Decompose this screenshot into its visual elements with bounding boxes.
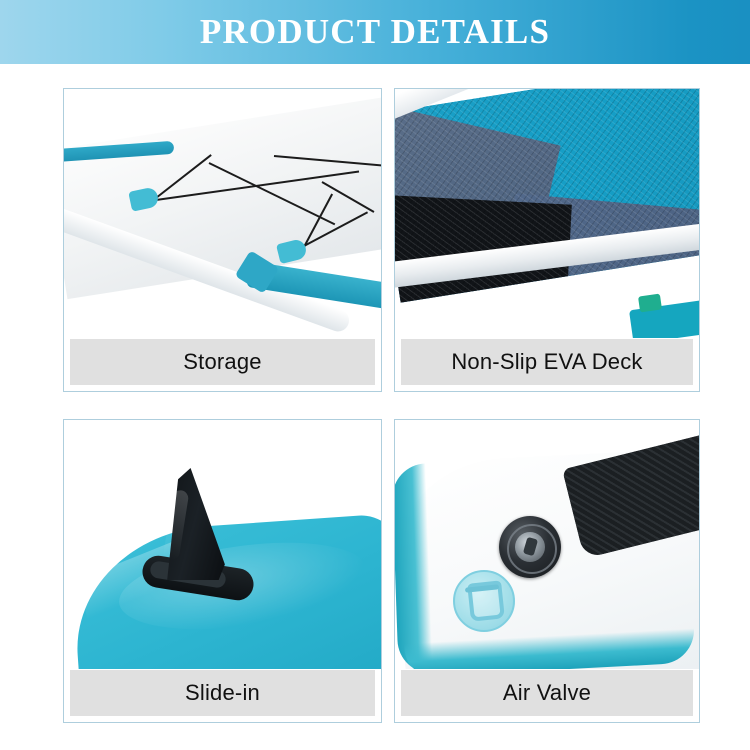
eva-deck-photo — [395, 89, 699, 338]
board-green-accent-shape — [638, 294, 662, 313]
feature-card-slide-in[interactable]: Slide-in — [63, 419, 382, 723]
header-banner: PRODUCT DETAILS — [0, 0, 750, 64]
product-details-page: PRODUCT DETAILS — [0, 0, 750, 750]
card-caption-label: Air Valve — [503, 680, 591, 706]
card-caption-bar: Storage — [70, 339, 375, 385]
card-caption-label: Slide-in — [185, 680, 260, 706]
feature-card-eva-deck[interactable]: Non-Slip EVA Deck — [394, 88, 700, 392]
page-title: PRODUCT DETAILS — [0, 0, 750, 64]
feature-card-storage[interactable]: Storage — [63, 88, 382, 392]
air-valve-photo — [395, 420, 699, 669]
feature-card-grid: Storage — [63, 88, 700, 723]
card-caption-bar: Air Valve — [401, 670, 693, 716]
slide-in-fin-photo — [64, 420, 381, 669]
card-caption-bar: Slide-in — [70, 670, 375, 716]
card-caption-bar: Non-Slip EVA Deck — [401, 339, 693, 385]
feature-card-air-valve[interactable]: Air Valve — [394, 419, 700, 723]
card-caption-label: Non-Slip EVA Deck — [451, 349, 642, 375]
storage-bungee-photo — [64, 89, 381, 338]
card-caption-label: Storage — [183, 349, 261, 375]
